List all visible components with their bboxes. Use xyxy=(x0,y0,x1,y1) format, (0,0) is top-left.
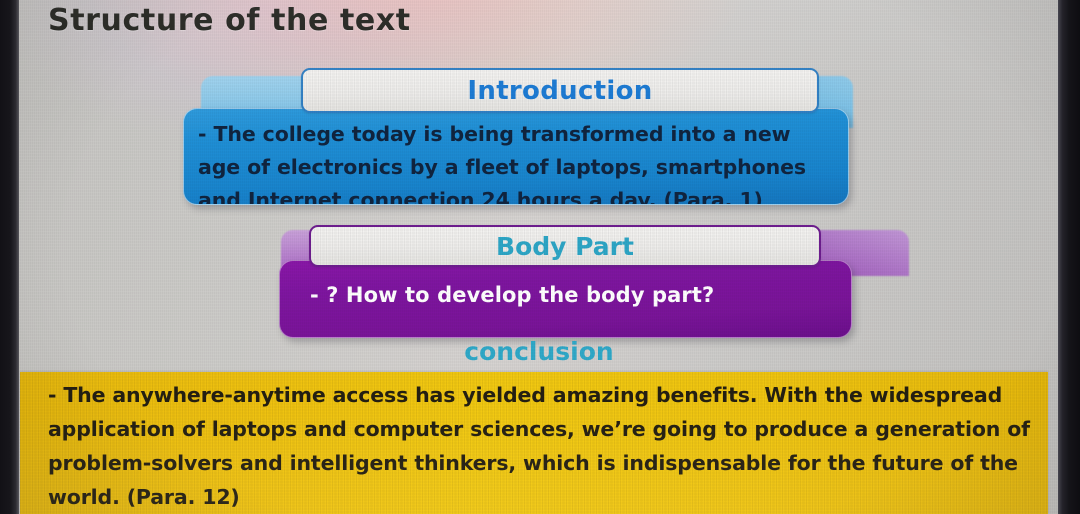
slide-screen: Structure of the text Introduction - The… xyxy=(17,0,1061,514)
body-part-body-text: - ? How to develop the body part? xyxy=(310,283,714,307)
introduction-header[interactable]: Introduction xyxy=(301,68,819,113)
projected-slide-photo: Structure of the text Introduction - The… xyxy=(0,0,1080,514)
body-part-body-panel: - ? How to develop the body part? xyxy=(279,260,852,338)
introduction-body-panel: - The college today is being transformed… xyxy=(183,108,849,205)
conclusion-body-panel: - The anywhere-anytime access has yielde… xyxy=(20,372,1048,514)
introduction-body-text: - The college today is being transformed… xyxy=(198,118,838,205)
section-body-part: Body Part - ? How to develop the body pa… xyxy=(269,222,869,352)
conclusion-header: conclusion xyxy=(17,337,1061,366)
introduction-header-label: Introduction xyxy=(467,76,652,106)
body-part-header[interactable]: Body Part xyxy=(309,225,821,267)
screen-bezel-right xyxy=(1058,0,1080,514)
page-title: Structure of the text xyxy=(48,3,411,38)
section-introduction: Introduction - The college today is bein… xyxy=(183,60,903,210)
conclusion-body-text: - The anywhere-anytime access has yielde… xyxy=(48,378,1036,514)
body-part-header-label: Body Part xyxy=(496,232,634,261)
screen-bezel-left xyxy=(0,0,19,514)
